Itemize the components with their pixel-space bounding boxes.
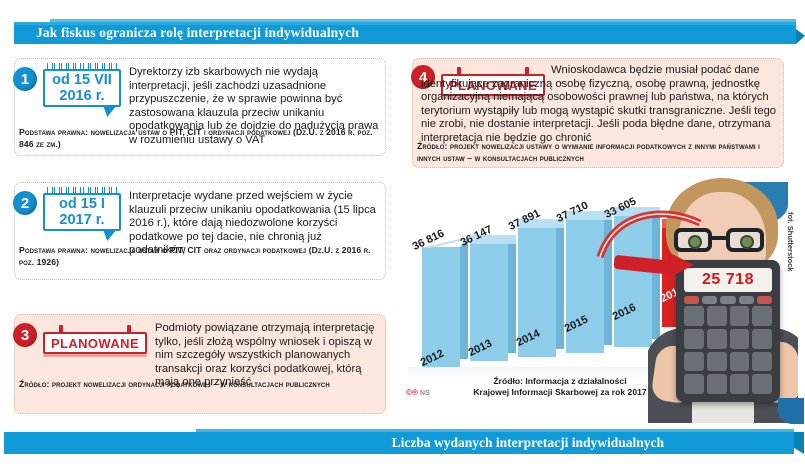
infographic-canvas: Jak fiskus ogranicza rolę interpretacji … (0, 0, 805, 475)
photo-credit: fot. Shutterstock (786, 212, 795, 272)
panel-3-planned-sign-icon: PLANOWANE (43, 325, 147, 359)
copyright-symbol: ©℗ (406, 388, 418, 397)
panel-2: 2 od 15 I 2017 r. Interpretacje wydane p… (14, 182, 386, 280)
chart-source: Źródło: Informacja z działalności Krajow… (440, 376, 680, 398)
panel-1-calendar-icon: od 15 VII 2016 r. (43, 63, 121, 113)
copyright-ns: NS (420, 390, 430, 397)
footer-ribbon-fold-icon (794, 432, 804, 454)
panel-4: 4 PLANOWANE Wnioskodawca będzie musiał p… (412, 58, 784, 168)
glasses-bridge (712, 236, 728, 240)
calculator-display-value: 25 718 (702, 271, 754, 289)
calendar-body: od 15 VII 2016 r. (43, 69, 121, 107)
panel-2-legal: Podstawa prawna: nowelizacja ustaw o PIT… (19, 245, 381, 268)
calendar-body: od 15 I 2017 r. (43, 193, 121, 231)
page-title: Jak fiskus ogranicza rolę interpretacji … (36, 25, 359, 41)
chart-source-line2: Krajowej Informacji Skarbowej za rok 201… (440, 387, 680, 398)
panel-3: 3 PLANOWANE Podmioty powiązane otrzymają… (14, 314, 386, 414)
decor-blue-corner (778, 398, 804, 424)
calendar-tail-icon (103, 105, 117, 117)
arrow-head (668, 252, 694, 278)
panel-3-legal: Źródło: projekt nowelizacji ordynacji po… (19, 379, 381, 391)
footer-ribbon: Liczba wydanych interpretacji indywidual… (4, 432, 794, 454)
footer-title: Liczba wydanych interpretacji indywidual… (392, 435, 664, 451)
header-ribbon: Jak fiskus ogranicza rolę interpretacji … (14, 22, 796, 44)
panel-2-calendar-icon: od 15 I 2017 r. (43, 187, 121, 237)
panel-3-badge-label: PLANOWANE (51, 336, 139, 351)
calculator-function-keys (684, 296, 772, 304)
panel-2-number: 2 (13, 191, 37, 215)
arrow-to-calculator-icon (612, 248, 698, 294)
panel-4-legal: Źródło: projekt nowelizacji ustawy o wym… (417, 141, 783, 164)
copyright-mark: ©℗ NS (406, 388, 430, 397)
panel-1-legal: Podstawa prawna: nowelizacja ustaw o PIT… (19, 127, 381, 150)
calendar-tail-icon (103, 229, 117, 241)
panel-1: 1 od 15 VII 2016 r. Dyrektorzy izb skarb… (14, 58, 386, 156)
sign-base (43, 354, 147, 357)
panel-1-badge-line2: 2016 r. (45, 88, 119, 104)
panel-2-badge-line2: 2017 r. (45, 212, 119, 228)
header-ribbon-fold-icon (796, 29, 805, 44)
panel-4-text: Wnioskodawca będzie musiał podać dane id… (421, 64, 777, 146)
panel-1-badge-line1: od 15 VII (45, 72, 119, 88)
panel-1-number: 1 (13, 67, 37, 91)
sign-plate: PLANOWANE (43, 332, 147, 354)
panel-2-badge-line1: od 15 I (45, 196, 119, 212)
calculator-keypad (684, 306, 772, 394)
panel-3-number: 3 (13, 323, 37, 347)
arrow-stem (613, 255, 676, 275)
chart-source-line1: Źródło: Informacja z działalności (440, 376, 680, 387)
photo-iris-right (740, 235, 754, 249)
